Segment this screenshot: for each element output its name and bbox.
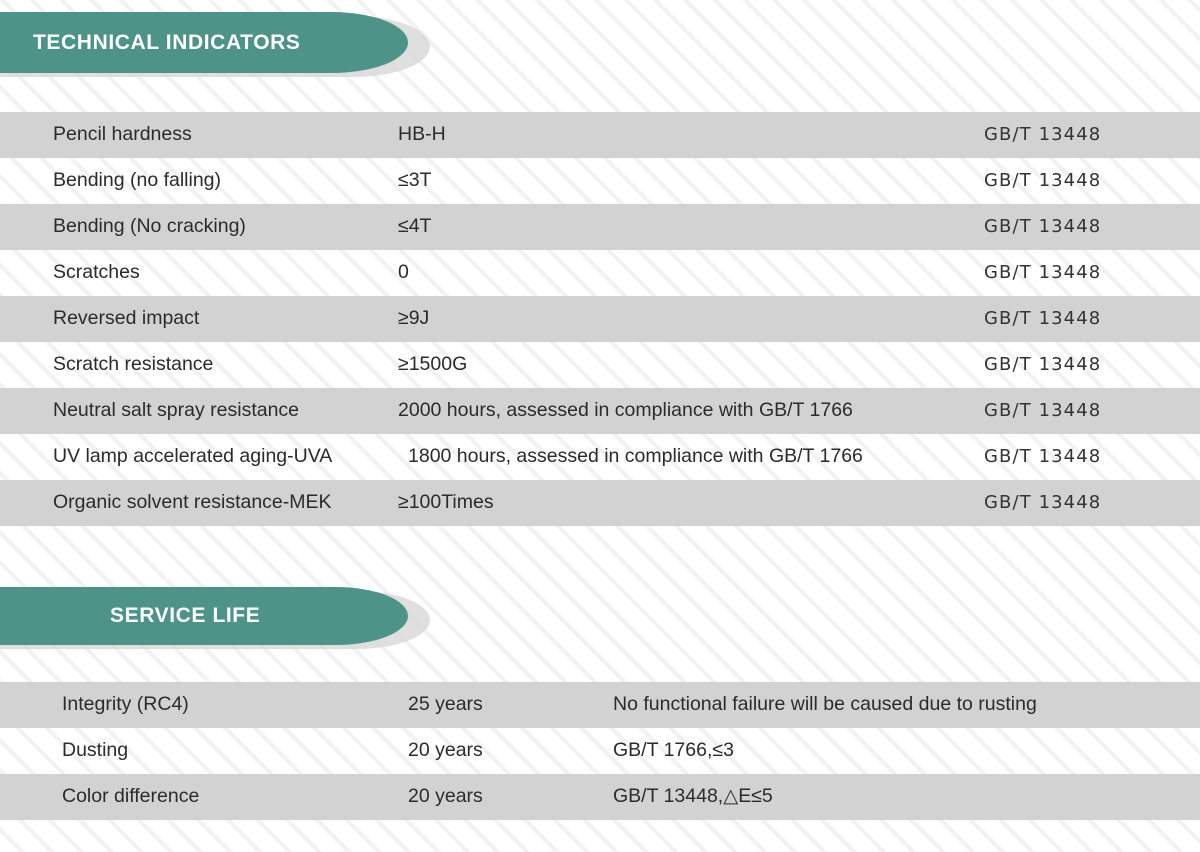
row-duration: 25 years	[408, 695, 483, 715]
table-row: Integrity (RC4) 25 years No functional f…	[0, 682, 1200, 728]
banner-service-life: SERVICE LIFE	[0, 587, 408, 645]
row-standard: GB/T 13448	[984, 402, 1101, 420]
row-property: UV lamp accelerated aging-UVA	[53, 447, 332, 467]
table-row: Pencil hardness HB-H GB/T 13448	[0, 112, 1200, 158]
row-standard: GB/T 13448	[984, 264, 1101, 282]
row-property: Color difference	[62, 787, 199, 807]
row-value: ≥1500G	[398, 355, 467, 375]
table-row: Scratches 0 GB/T 13448	[0, 250, 1200, 296]
table-row: Bending (no falling) ≤3T GB/T 13448	[0, 158, 1200, 204]
row-standard: GB/T 13448	[984, 310, 1101, 328]
row-value: 0	[398, 263, 409, 283]
row-property: Neutral salt spray resistance	[53, 401, 299, 421]
row-value: 1800 hours, assessed in compliance with …	[408, 447, 863, 467]
row-property: Integrity (RC4)	[62, 695, 189, 715]
table-row: UV lamp accelerated aging-UVA 1800 hours…	[0, 434, 1200, 480]
table-row: Scratch resistance ≥1500G GB/T 13448	[0, 342, 1200, 388]
technical-indicators-table: Pencil hardness HB-H GB/T 13448 Bending …	[0, 112, 1200, 526]
table-row: Reversed impact ≥9J GB/T 13448	[0, 296, 1200, 342]
row-value: 2000 hours, assessed in compliance with …	[398, 401, 853, 421]
row-value: HB-H	[398, 125, 446, 145]
page-background: TECHNICAL INDICATORS Pencil hardness HB-…	[0, 0, 1200, 852]
table-row: Color difference 20 years GB/T 13448,△E≤…	[0, 774, 1200, 820]
section-header-service-life: SERVICE LIFE	[0, 587, 440, 645]
row-note: GB/T 1766,≤3	[613, 741, 734, 761]
row-value: ≤3T	[398, 171, 431, 191]
row-standard: GB/T 13448	[984, 218, 1101, 236]
table-row: Organic solvent resistance-MEK ≥100Times…	[0, 480, 1200, 526]
row-property: Reversed impact	[53, 309, 199, 329]
table-row: Dusting 20 years GB/T 1766,≤3	[0, 728, 1200, 774]
row-standard: GB/T 13448	[984, 448, 1101, 466]
service-life-table: Integrity (RC4) 25 years No functional f…	[0, 682, 1200, 820]
row-note: GB/T 13448,△E≤5	[613, 787, 773, 807]
row-standard: GB/T 13448	[984, 494, 1101, 512]
section-header-technical-indicators: TECHNICAL INDICATORS	[0, 12, 440, 73]
row-value: ≥9J	[398, 309, 429, 329]
row-property: Organic solvent resistance-MEK	[53, 493, 332, 513]
row-property: Scratch resistance	[53, 355, 213, 375]
banner-technical-indicators: TECHNICAL INDICATORS	[0, 12, 408, 73]
row-value: ≤4T	[398, 217, 431, 237]
row-duration: 20 years	[408, 787, 483, 807]
row-property: Bending (No cracking)	[53, 217, 246, 237]
row-value: ≥100Times	[398, 493, 494, 513]
row-duration: 20 years	[408, 741, 483, 761]
row-standard: GB/T 13448	[984, 172, 1101, 190]
table-row: Neutral salt spray resistance 2000 hours…	[0, 388, 1200, 434]
section-title-service-life: SERVICE LIFE	[0, 604, 260, 628]
row-note: No functional failure will be caused due…	[613, 695, 1037, 715]
row-property: Bending (no falling)	[53, 171, 221, 191]
section-title-technical-indicators: TECHNICAL INDICATORS	[0, 31, 301, 55]
row-property: Scratches	[53, 263, 140, 283]
table-row: Bending (No cracking) ≤4T GB/T 13448	[0, 204, 1200, 250]
row-standard: GB/T 13448	[984, 356, 1101, 374]
row-property: Pencil hardness	[53, 125, 192, 145]
row-property: Dusting	[62, 741, 128, 761]
row-standard: GB/T 13448	[984, 126, 1101, 144]
